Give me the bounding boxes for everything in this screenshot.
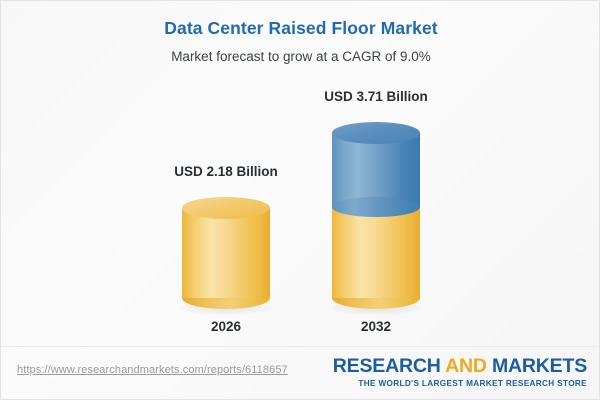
bar-value-label-2026: USD 2.18 Billion	[144, 164, 308, 179]
category-label-2032: 2032	[294, 319, 458, 334]
logo-wordmark: RESEARCH AND MARKETS	[333, 355, 587, 377]
footer: https://www.researchandmarkets.com/repor…	[1, 347, 600, 399]
cylinder-top-cap-2026	[182, 197, 270, 219]
logo-word-research: RESEARCH	[333, 355, 441, 377]
logo-word-and: AND	[445, 355, 487, 377]
cylinder-top-cap-2032	[332, 122, 420, 144]
cylinder-2032	[332, 122, 420, 309]
research-and-markets-logo: RESEARCH AND MARKETS THE WORLD'S LARGEST…	[333, 355, 587, 389]
cylinder-body-base-2032	[332, 208, 420, 298]
category-label-2026: 2026	[144, 319, 308, 334]
report-url-link[interactable]: https://www.researchandmarkets.com/repor…	[17, 364, 288, 376]
chart-plot-area: USD 2.18 Billion 2026 USD 3.71 Billion	[1, 1, 600, 346]
bar-value-label-2032: USD 3.71 Billion	[294, 89, 458, 104]
cylinder-mid-cap-2032	[332, 197, 420, 217]
infographic-card: Data Center Raised Floor Market Market f…	[0, 0, 600, 400]
cylinder-body-2026	[182, 208, 270, 298]
cylinder-2026	[182, 197, 270, 309]
logo-tagline: THE WORLD'S LARGEST MARKET RESEARCH STOR…	[333, 378, 587, 389]
logo-word-markets: MARKETS	[492, 355, 587, 377]
